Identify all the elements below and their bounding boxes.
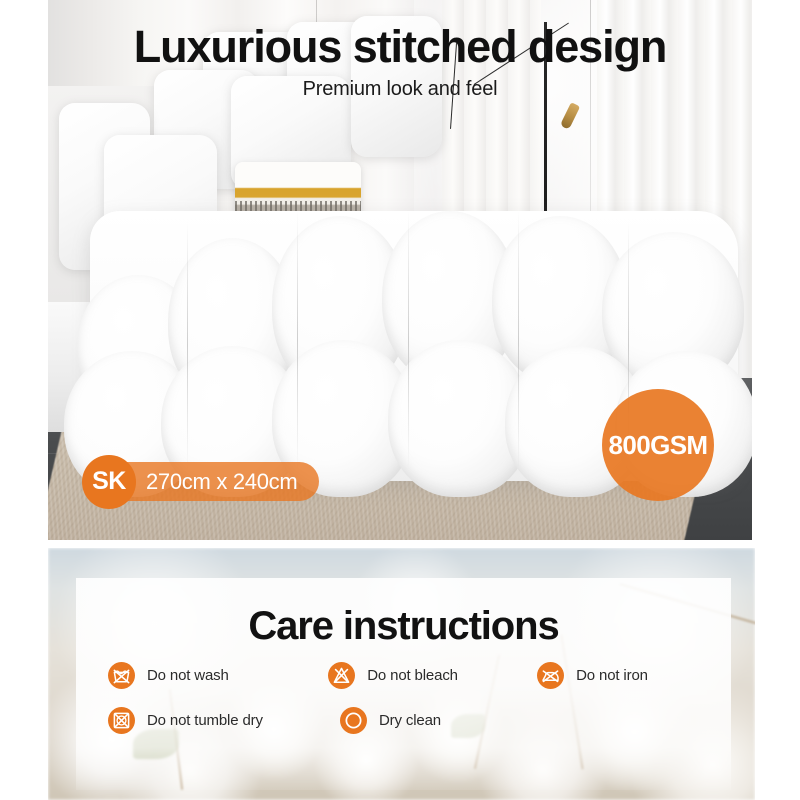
care-label: Do not iron (576, 667, 648, 684)
care-item-do-not-bleach: Do not bleach (328, 662, 537, 689)
care-items-grid: Do not wash Do not bleach (108, 662, 708, 752)
care-row: Do not tumble dry Dry clean (108, 707, 708, 734)
care-item-dry-clean: Dry clean (340, 707, 560, 734)
duvet-seam (518, 211, 519, 470)
duvet-seam (187, 221, 188, 469)
size-code: SK (82, 455, 136, 509)
gsm-badge: 800GSM (602, 389, 714, 501)
care-item-do-not-tumble-dry: Do not tumble dry (108, 707, 340, 734)
care-item-do-not-iron: Do not iron (537, 662, 708, 689)
care-label: Do not wash (147, 667, 229, 684)
care-label: Do not tumble dry (147, 712, 263, 729)
care-item-do-not-wash: Do not wash (108, 662, 328, 689)
do-not-bleach-icon (328, 662, 355, 689)
care-label: Do not bleach (367, 667, 458, 684)
dry-clean-icon (340, 707, 367, 734)
do-not-tumble-dry-icon (108, 707, 135, 734)
duvet-seam (408, 211, 409, 470)
gsm-label: 800GSM (608, 430, 707, 461)
care-label: Dry clean (379, 712, 441, 729)
pillow (351, 16, 443, 156)
duvet-seam (297, 211, 298, 470)
size-badge: SK 270cm x 240cm (92, 462, 319, 501)
care-instructions-section: Care instructions Do not (48, 548, 755, 800)
care-row: Do not wash Do not bleach (108, 662, 708, 689)
care-panel: Care instructions Do not (76, 578, 731, 790)
product-feature-image: Luxurious stitched design Premium look a… (0, 0, 800, 800)
size-dimensions: 270cm x 240cm (146, 469, 297, 495)
lamp-pole (544, 22, 547, 238)
do-not-wash-icon (108, 662, 135, 689)
care-title: Care instructions (76, 604, 731, 649)
do-not-iron-icon (537, 662, 564, 689)
